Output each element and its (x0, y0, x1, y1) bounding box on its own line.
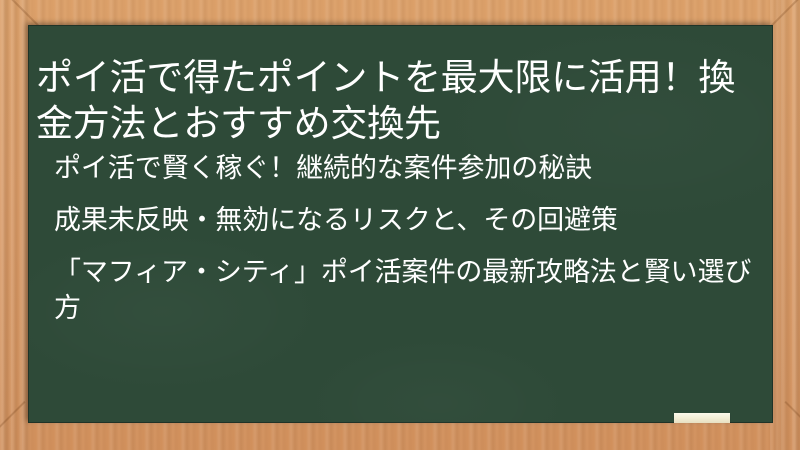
article-list: ポイ活で賢く稼ぐ！継続的な案件参加の秘訣 成果未反映・無効になるリスクと、その回… (36, 150, 752, 342)
page-title: ポイ活で得たポイントを最大限に活用！換金方法とおすすめ交換先 (36, 55, 748, 147)
list-item[interactable]: ポイ活で賢く稼ぐ！継続的な案件参加の秘訣 (36, 150, 752, 186)
list-item[interactable]: 「マフィア・シティ」ポイ活案件の最新攻略法と賢い選び方 (36, 254, 752, 326)
chalkboard-card: ポイ活で得たポイントを最大限に活用！換金方法とおすすめ交換先 ポイ活で賢く稼ぐ！… (0, 0, 800, 450)
list-item[interactable]: 成果未反映・無効になるリスクと、その回避策 (36, 202, 752, 238)
chalk-stick-icon (674, 413, 730, 423)
chalkboard-surface: ポイ活で得たポイントを最大限に活用！換金方法とおすすめ交換先 ポイ活で賢く稼ぐ！… (28, 25, 773, 423)
wood-frame-left-grain (0, 0, 30, 450)
wood-frame-right-grain (770, 0, 800, 450)
